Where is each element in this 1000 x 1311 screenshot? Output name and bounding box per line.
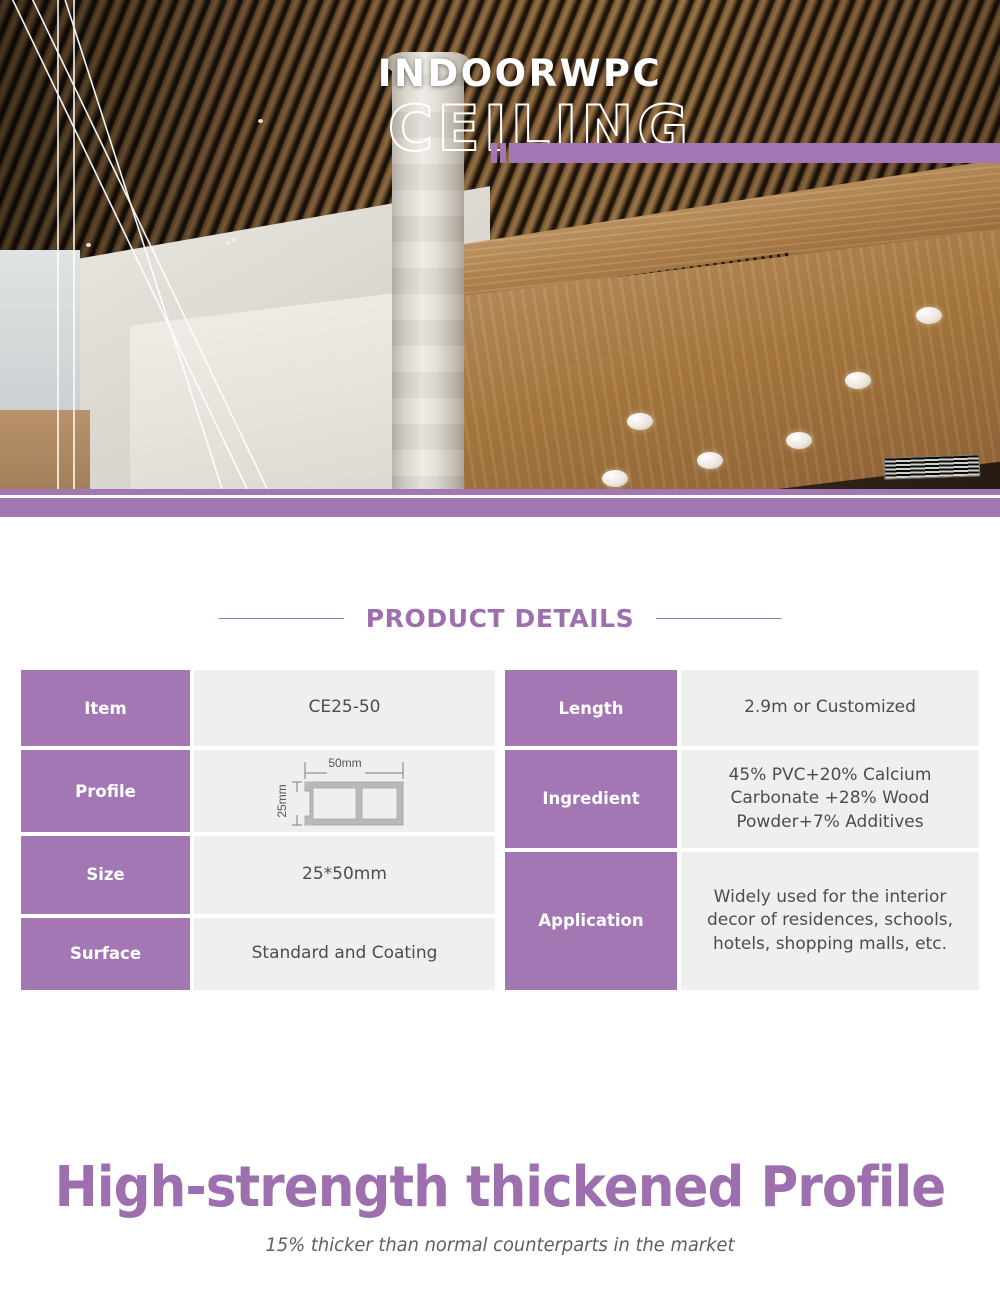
recessed-light [697, 452, 723, 469]
concrete-column [392, 60, 464, 489]
footer-headline: High-strength thickened Profile [40, 1155, 960, 1220]
svg-text:50mm: 50mm [328, 756, 361, 770]
table-row: Item CE25-50 [21, 670, 495, 746]
table-row: Profile 50mm [21, 750, 495, 832]
divider-band-thick [0, 498, 1000, 517]
ceiling-spotlight [232, 238, 237, 242]
ceiling-spotlight [86, 243, 91, 247]
spec-label-profile: Profile [21, 750, 190, 832]
column-capital [386, 52, 470, 74]
accent-tick [491, 143, 497, 163]
recessed-light [627, 413, 653, 430]
spec-label-surface: Surface [21, 918, 190, 990]
ceiling-spotlight [258, 119, 263, 123]
spec-label-length: Length [505, 670, 677, 746]
heading-rule-right [656, 618, 781, 619]
recessed-light [602, 470, 628, 487]
spec-value-application: Widely used for the interior decor of re… [681, 852, 979, 990]
left-wood-accent [0, 410, 90, 489]
spec-table: Item CE25-50 Profile 50mm [21, 670, 979, 990]
table-row: Application Widely used for the interior… [505, 852, 979, 990]
ceiling-spotlight [226, 241, 231, 245]
heading-rule-left [219, 618, 344, 619]
spec-label-item: Item [21, 670, 190, 746]
spec-value-surface: Standard and Coating [194, 918, 495, 990]
spec-label-application: Application [505, 852, 677, 990]
section-heading: PRODUCT DETAILS [0, 604, 1000, 633]
recessed-light [845, 372, 871, 389]
table-row: Ingredient 45% PVC+20% Calcium Carbonate… [505, 750, 979, 848]
spec-value-length: 2.9m or Customized [681, 670, 979, 746]
hero-banner: INDOORWPC CEILING [0, 0, 1000, 489]
spec-table-left-column: Item CE25-50 Profile 50mm [21, 670, 495, 990]
recessed-light [786, 432, 812, 449]
section-heading-text: PRODUCT DETAILS [366, 604, 635, 633]
profile-cross-section-diagram: 50mm 25mm [270, 753, 420, 829]
svg-text:25mm: 25mm [275, 785, 289, 818]
accent-tick [500, 143, 506, 163]
hero-accent-bar [509, 143, 1000, 163]
spec-value-size: 25*50mm [194, 836, 495, 913]
footer-subline: 15% thicker than normal counterparts in … [30, 1234, 970, 1256]
table-row: Size 25*50mm [21, 836, 495, 913]
spec-label-size: Size [21, 836, 190, 913]
spec-label-ingredient: Ingredient [505, 750, 677, 848]
table-row: Length 2.9m or Customized [505, 670, 979, 746]
spec-value-item: CE25-50 [194, 670, 495, 746]
spec-value-ingredient: 45% PVC+20% Calcium Carbonate +28% Wood … [681, 750, 979, 848]
recessed-light [916, 307, 942, 324]
table-row: Surface Standard and Coating [21, 918, 495, 990]
spec-value-profile: 50mm 25mm [194, 750, 495, 832]
product-detail-page: INDOORWPC CEILING PRODUCT DETAILS Item C… [0, 0, 1000, 1311]
divider-band-thin [0, 489, 1000, 495]
footer-headline-block: High-strength thickened Profile 15% thic… [0, 1155, 1000, 1256]
spec-table-right-column: Length 2.9m or Customized Ingredient 45%… [505, 670, 979, 990]
air-vent-grille [884, 454, 981, 479]
